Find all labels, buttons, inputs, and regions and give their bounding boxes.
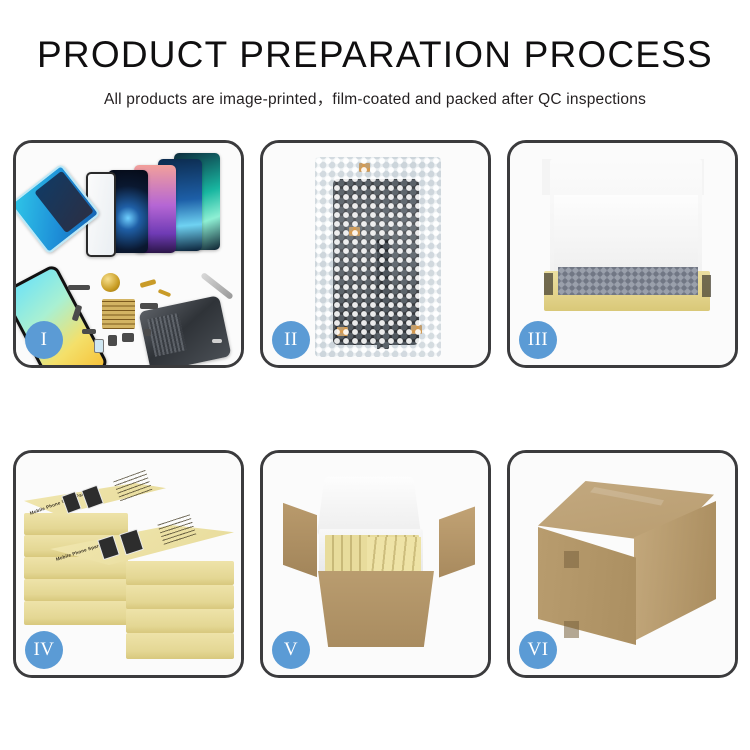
step-badge: IV — [25, 631, 63, 669]
box-print-text-block-a — [113, 470, 152, 502]
process-step-1: I — [13, 140, 244, 368]
box-stack-item — [126, 609, 234, 633]
bubble-texture — [315, 157, 441, 357]
screwdriver-tool — [200, 272, 234, 300]
tray-corner-right — [702, 275, 711, 297]
step-badge: II — [272, 321, 310, 359]
step-badge: VI — [519, 631, 557, 669]
process-step-6: VI — [507, 450, 738, 678]
product-preparation-infographic: PRODUCT PREPARATION PROCESS All products… — [0, 0, 750, 750]
bubble-wrap-contents — [558, 267, 698, 295]
carton-tape-lower — [564, 621, 579, 638]
box-stack-item — [126, 585, 234, 609]
box-stack-item — [24, 513, 128, 535]
step-badge: I — [25, 321, 63, 359]
carton-flap-left — [283, 503, 317, 577]
small-part-7 — [94, 339, 104, 353]
process-step-3: III — [507, 140, 738, 368]
carton-body — [313, 571, 439, 647]
step-badge: V — [272, 631, 310, 669]
vibration-motor-part — [101, 273, 120, 292]
box-stack-item — [126, 633, 234, 659]
carton-front-face — [538, 527, 636, 645]
process-step-4: Mobile Phone Spare Parts Mobile Phone Sp… — [13, 450, 244, 678]
tray-corner-left — [544, 273, 553, 295]
screw-grid-part — [102, 299, 135, 329]
inner-boxes-row-2 — [367, 537, 421, 573]
bubble-bag — [315, 157, 441, 357]
flex-cable-2 — [158, 289, 172, 298]
foam-lid — [317, 477, 421, 536]
small-part-1 — [68, 285, 90, 290]
small-part-3 — [82, 329, 96, 334]
process-step-2: II — [260, 140, 491, 368]
small-part-4 — [140, 303, 158, 309]
box-stack-item — [24, 579, 128, 601]
process-step-5: V — [260, 450, 491, 678]
step-badge: III — [519, 321, 557, 359]
page-subtitle: All products are image-printed，film-coat… — [0, 87, 750, 109]
header: PRODUCT PREPARATION PROCESS All products… — [0, 0, 750, 109]
carton-flap-right — [439, 506, 475, 577]
small-part-8 — [144, 329, 151, 336]
box-stack-item — [24, 601, 128, 625]
page-title: PRODUCT PREPARATION PROCESS — [0, 36, 750, 73]
flex-cable-1 — [140, 279, 157, 288]
small-part-9 — [212, 339, 222, 343]
carton-tape-upper — [564, 551, 579, 568]
small-part-5 — [108, 335, 117, 346]
process-step-grid: I II — [13, 140, 737, 678]
small-part-6 — [122, 333, 134, 342]
foam-sheet — [554, 195, 698, 273]
box-stack-item — [126, 561, 234, 585]
